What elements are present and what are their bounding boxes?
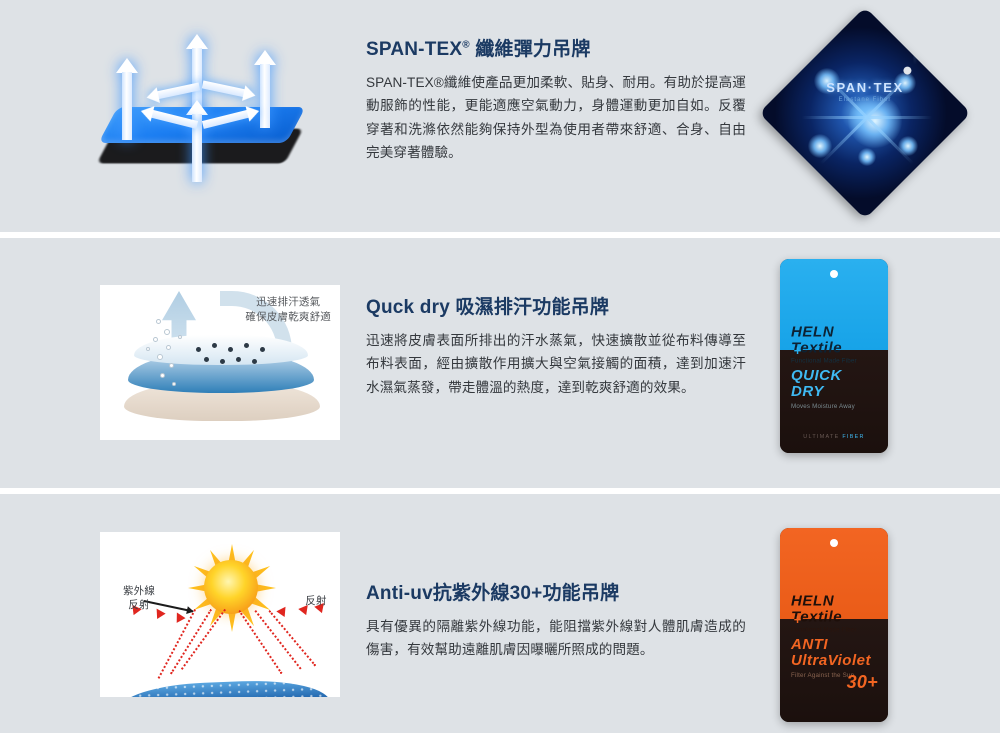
uv-reflection-sun-icon: 紫外線 反射 反射 — [100, 532, 340, 697]
rect-tag-quick-dry: HELN Textile Functional Made Fiber + QUI… — [780, 259, 888, 453]
uv-label-left-line2: 反射 — [128, 599, 149, 611]
tag-brand-subtitle: Functional Made Fiber — [791, 357, 857, 364]
quick-dry-illustration: 迅速排汗透氣 確保皮膚乾爽舒適 — [0, 238, 355, 488]
span-tex-hangtag: SPAN·TEX Elastane Fiber — [790, 38, 940, 188]
diamond-tag: SPAN·TEX Elastane Fiber — [759, 7, 971, 219]
product-feature-page: SPAN-TEX® 纖維彈力吊牌 SPAN-TEX®纖維使產品更加柔軟、貼身、耐… — [0, 0, 1000, 733]
heading-registered-mark: ® — [462, 40, 470, 51]
moisture-wicking-layers-icon: 迅速排汗透氣 確保皮膚乾爽舒適 — [100, 285, 340, 440]
quick-dry-copy: Quck dry 吸濕排汗功能吊牌 迅速將皮膚表面所排出的汗水蒸氣，快速擴散並從… — [366, 296, 746, 399]
heading-brand: Quck dry — [366, 297, 450, 318]
diamond-tag-brand: SPAN·TEX — [790, 80, 940, 95]
caption-line-1: 迅速排汗透氣 — [256, 296, 320, 308]
quick-dry-photo: 迅速排汗透氣 確保皮膚乾爽舒適 — [100, 285, 340, 440]
tag-footer-pre: ULTIMATE — [803, 434, 842, 440]
quick-dry-hangtag: HELN Textile Functional Made Fiber + QUI… — [780, 259, 888, 453]
section-body-text: 迅速將皮膚表面所排出的汗水蒸氣，快速擴散並從布料傳導至布料表面，經由擴散作用擴大… — [366, 329, 746, 400]
heading-cjk: 纖維彈力吊牌 — [470, 39, 591, 60]
hangtag-hole-icon — [830, 270, 838, 278]
hangtag-hole-icon — [830, 539, 838, 547]
section-body-text: 具有優異的隔離紫外線功能，能阻擋紫外線對人體肌膚造成的傷害，有效幫助遠離肌膚因曝… — [366, 615, 746, 662]
section-body-text: SPAN-TEX®纖維使產品更加柔軟、貼身、耐用。有助於提高運動服飾的性能，更能… — [366, 71, 746, 165]
section-span-tex: SPAN-TEX® 纖維彈力吊牌 SPAN-TEX®纖維使產品更加柔軟、貼身、耐… — [0, 0, 1000, 232]
span-tex-copy: SPAN-TEX® 纖維彈力吊牌 SPAN-TEX®纖維使產品更加柔軟、貼身、耐… — [366, 38, 746, 165]
tag-feature-line1: QUICK — [791, 368, 855, 385]
quick-dry-caption: 迅速排汗透氣 確保皮膚乾爽舒適 — [245, 295, 331, 325]
arrow-flat-upright-icon — [201, 77, 257, 104]
arrow-up-left-icon — [116, 58, 138, 140]
hangtag-hole-icon — [903, 67, 911, 75]
uv-label-left: 紫外線 反射 — [110, 584, 168, 612]
caption-line-2: 確保皮膚乾爽舒適 — [245, 311, 331, 323]
tag-feature-line2: DRY — [791, 384, 855, 401]
uv-label-left-line1: 紫外線 — [123, 585, 155, 597]
fabric-stretch-arrows-icon — [62, 22, 337, 202]
uv-label-right: 反射 — [298, 594, 334, 608]
section-heading: Quck dry 吸濕排汗功能吊牌 — [366, 296, 746, 320]
tag-footer: ULTIMATE FIBER — [780, 434, 888, 440]
sun-icon — [204, 560, 258, 614]
arrow-up-through-icon — [186, 100, 208, 182]
section-heading: SPAN-TEX® 纖維彈力吊牌 — [366, 38, 746, 62]
uv-fabric-layer — [117, 678, 330, 697]
tag-plus-icon: + — [790, 612, 805, 627]
tag-brand-line1: HELN — [791, 594, 857, 610]
tag-feature-line1: ANTI — [791, 637, 871, 654]
heading-cjk: 吸濕排汗功能吊牌 — [450, 297, 609, 318]
anti-uv-hangtag: HELN Textile Functional Made Fiber + ANT… — [780, 528, 888, 722]
tag-feature-line2: UltraViolet — [791, 653, 871, 670]
section-anti-uv: 紫外線 反射 反射 Anti-uv抗紫外線30+功能吊牌 具有優異的隔離紫外線功… — [0, 494, 1000, 733]
tag-footer-highlight: FIBER — [842, 434, 864, 440]
anti-uv-illustration: 紫外線 反射 反射 — [0, 494, 355, 733]
span-tex-illustration — [0, 0, 355, 232]
heading-brand: Anti-uv — [366, 583, 433, 604]
heading-cjk: 抗紫外線30+功能吊牌 — [433, 583, 619, 604]
anti-uv-photo: 紫外線 反射 反射 — [100, 532, 340, 697]
tag-brand-subtitle: Functional Made Fiber — [791, 626, 857, 633]
section-heading: Anti-uv抗紫外線30+功能吊牌 — [366, 582, 746, 606]
rect-tag-anti-uv: HELN Textile Functional Made Fiber + ANT… — [780, 528, 888, 722]
tag-upf-rating: 30+ — [847, 672, 878, 693]
tag-feature-subtitle: Moves Moisture Away — [791, 403, 855, 410]
anti-uv-copy: Anti-uv抗紫外線30+功能吊牌 具有優異的隔離紫外線功能，能阻擋紫外線對人… — [366, 582, 746, 662]
section-quick-dry: 迅速排汗透氣 確保皮膚乾爽舒適 Quck dry 吸濕排汗功能吊牌 迅速將皮膚表… — [0, 238, 1000, 488]
tag-plus-icon: + — [790, 343, 805, 358]
heading-brand: SPAN-TEX — [366, 39, 462, 60]
tag-brand-line1: HELN — [791, 325, 857, 341]
tag-feature-block: QUICK DRY Moves Moisture Away — [791, 368, 855, 411]
